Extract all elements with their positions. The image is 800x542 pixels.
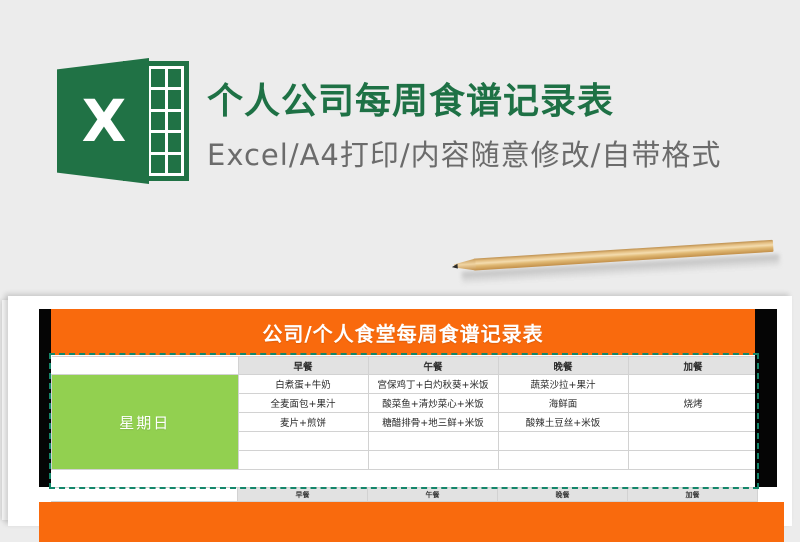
next-section-header: 早餐 午餐 晚餐 加餐 [51,487,755,501]
header-breakfast: 早餐 [238,357,368,375]
cell-extra[interactable] [628,375,758,394]
cell-dinner[interactable]: 蔬菜沙拉+果汁 [498,375,628,394]
cell-dinner[interactable] [498,432,628,451]
header-lunch: 午餐 [368,357,498,375]
cell-breakfast[interactable]: 全麦面包+果汁 [238,394,368,413]
cell-lunch[interactable]: 酸菜鱼+清炒菜心+米饭 [368,394,498,413]
cell-breakfast[interactable] [238,432,368,451]
promo-banner: X 个人公司每周食谱记录表 Excel/A4打印/内容随意修改/自带格式 [0,0,800,292]
header-dinner: 晚餐 [498,357,628,375]
header-extra: 加餐 [628,357,758,375]
cell-extra[interactable] [628,451,758,470]
sheet-banner: 公司/个人食堂每周食谱记录表 [51,309,755,355]
day-cell[interactable]: 星期日 [52,375,239,470]
cell-dinner[interactable] [498,451,628,470]
row-header-gutter [39,309,51,487]
cell-lunch[interactable] [368,432,498,451]
page-title: 个人公司每周食谱记录表 [207,72,614,124]
header-day [51,488,238,502]
header-extra: 加餐 [628,488,758,502]
excel-logo-icon: X [57,58,189,184]
page-subtitle: Excel/A4打印/内容随意修改/自带格式 [207,132,721,174]
spreadsheet-preview: 公司/个人食堂每周食谱记录表 早餐 午餐 晚餐 加餐 [0,290,800,526]
table-row[interactable]: 星期日 白煮蛋+牛奶 宫保鸡丁+白灼秋葵+米饭 蔬菜沙拉+果汁 [52,375,759,394]
cell-breakfast[interactable] [238,451,368,470]
sheet-banner-title: 公司/个人食堂每周食谱记录表 [262,318,543,347]
menu-table: 早餐 午餐 晚餐 加餐 星期日 白煮蛋+牛奶 宫保鸡丁+白灼秋葵+米饭 蔬菜沙拉… [51,356,759,470]
table-header-row: 早餐 午餐 晚餐 加餐 [52,357,759,375]
header-dinner: 晚餐 [498,488,628,502]
cell-extra[interactable] [628,432,758,451]
cell-lunch[interactable]: 糖醋排骨+地三鲜+米饭 [368,413,498,432]
cell-lunch[interactable] [368,451,498,470]
cell-breakfast[interactable]: 麦片+煎饼 [238,413,368,432]
cell-dinner[interactable]: 海鲜面 [498,394,628,413]
header-day [52,357,239,375]
excel-logo-letter: X [57,58,149,184]
paper-sheet: 公司/个人食堂每周食谱记录表 早餐 午餐 晚餐 加餐 [8,296,792,526]
cell-dinner[interactable]: 酸辣土豆丝+米饭 [498,413,628,432]
next-sheet-banner [39,502,784,542]
header-breakfast: 早餐 [238,488,368,502]
header-lunch: 午餐 [368,488,498,502]
table-header-row: 早餐 午餐 晚餐 加餐 [51,488,758,502]
menu-grid: 早餐 午餐 晚餐 加餐 星期日 白煮蛋+牛奶 宫保鸡丁+白灼秋葵+米饭 蔬菜沙拉… [51,356,755,486]
pencil-icon [451,231,782,286]
cell-extra[interactable] [628,413,758,432]
cell-extra[interactable]: 烧烤 [628,394,758,413]
cell-lunch[interactable]: 宫保鸡丁+白灼秋葵+米饭 [368,375,498,394]
column-header-gutter [755,309,777,487]
cell-breakfast[interactable]: 白煮蛋+牛奶 [238,375,368,394]
next-header-table: 早餐 午餐 晚餐 加餐 [51,487,758,502]
